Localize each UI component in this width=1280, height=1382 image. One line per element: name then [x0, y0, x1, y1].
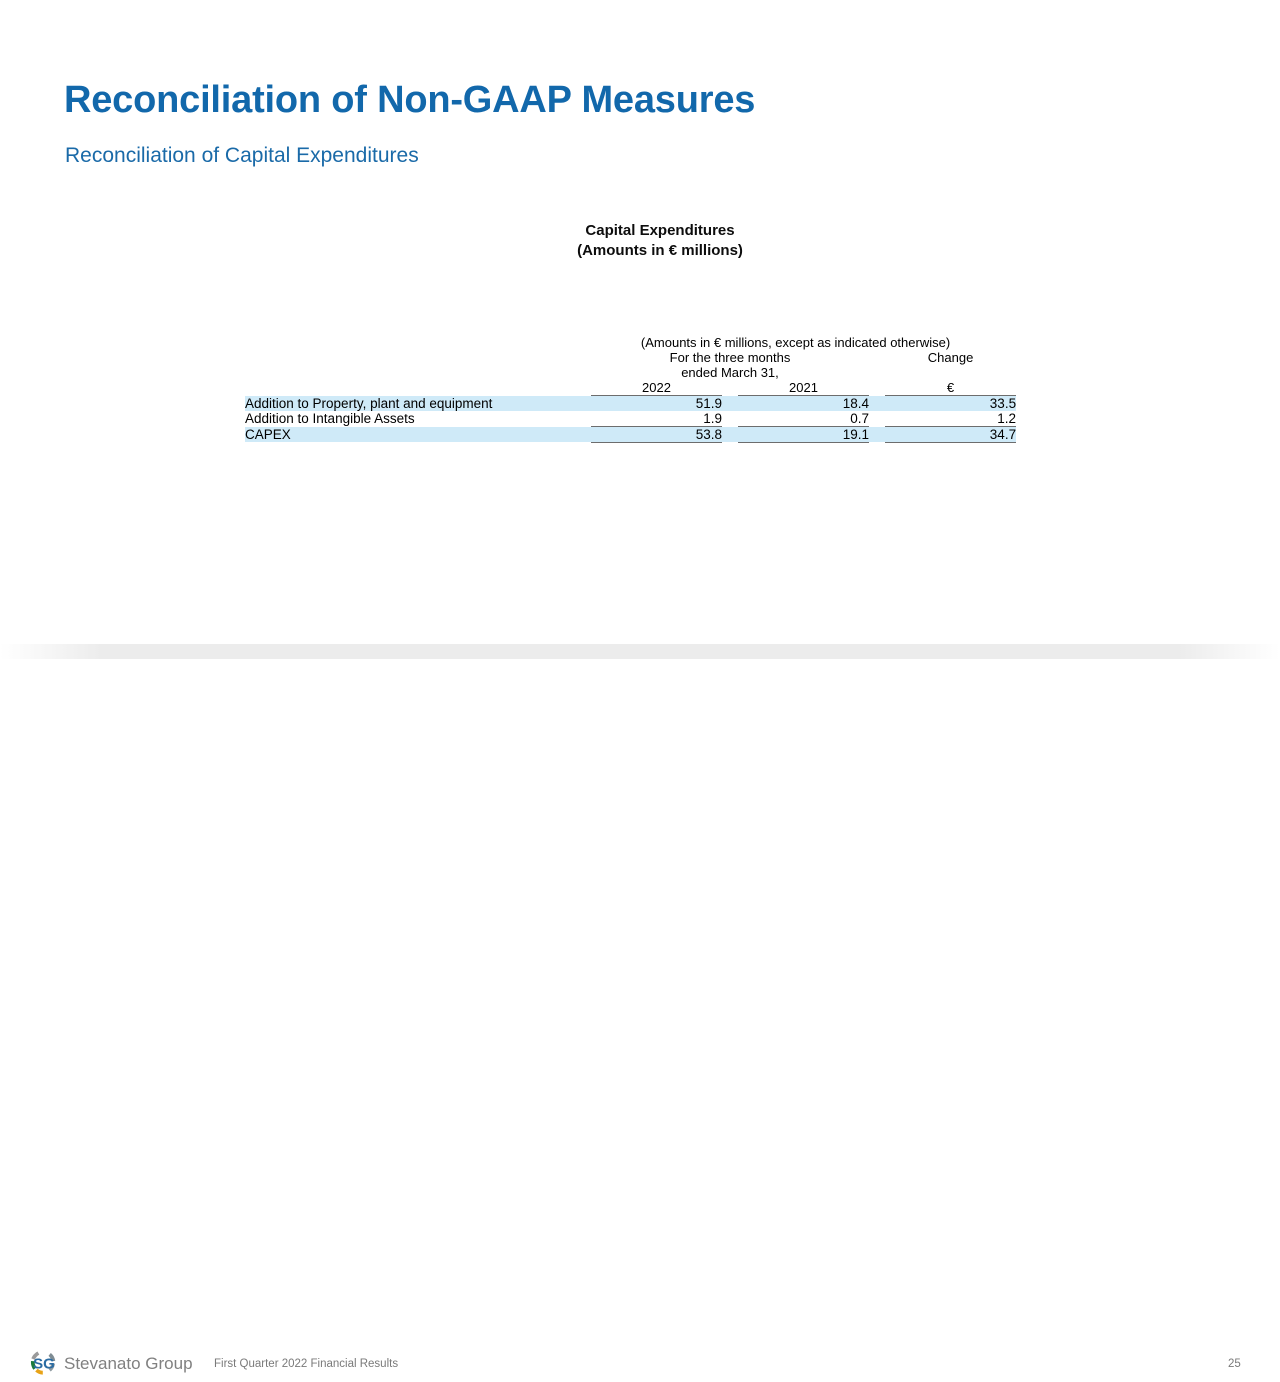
spacer-cell [245, 335, 575, 350]
spacer-cell [869, 411, 885, 426]
row-label-addition-ppe: Addition to Property, plant and equipmen… [245, 396, 575, 411]
spacer-cell [245, 350, 575, 365]
spacer-cell [575, 380, 591, 395]
table-units-note: (Amounts in € millions, except as indica… [575, 335, 1016, 350]
spacer-cell [575, 442, 591, 443]
column-group-header-period-line-1: For the three months [591, 350, 869, 365]
spacer-cell [722, 396, 738, 411]
company-wordmark: Stevanato Group [64, 1354, 193, 1374]
spacer-cell [869, 350, 885, 365]
capex-reconciliation-table: (Amounts in € millions, except as indica… [245, 335, 1016, 443]
table-body: Addition to Property, plant and equipmen… [245, 396, 1016, 443]
column-header-label [245, 380, 575, 395]
column-header-change-euro: € [885, 380, 1016, 395]
row-label-addition-intangible: Addition to Intangible Assets [245, 411, 575, 426]
spacer-cell [575, 396, 591, 411]
table-bottom-rule-row [245, 442, 1016, 443]
stevanato-group-logo-icon: SG [26, 1346, 62, 1382]
cell-2021-capex: 19.1 [738, 427, 869, 442]
spacer-cell [575, 427, 591, 442]
cell-change-addition-ppe: 33.5 [885, 396, 1016, 411]
spacer-cell [575, 350, 591, 365]
table-row: Addition to Intangible Assets 1.9 0.7 1.… [245, 411, 1016, 426]
svg-text:SG: SG [33, 1356, 55, 1373]
column-group-header-period-line-2: ended March 31, [591, 365, 869, 380]
bottom-rule-change [885, 442, 1016, 443]
spacer-cell [722, 442, 738, 443]
cell-2021-addition-intangible: 0.7 [738, 411, 869, 426]
spacer-cell [869, 396, 885, 411]
table-period-header-row-2: ended March 31, [245, 365, 1016, 380]
bottom-rule-2021 [738, 442, 869, 443]
footer-divider-band [0, 644, 1280, 659]
table-column-header-row: 2022 2021 € [245, 380, 1016, 395]
cell-2022-addition-intangible: 1.9 [591, 411, 722, 426]
cell-2021-addition-ppe: 18.4 [738, 396, 869, 411]
footer-deck-name: First Quarter 2022 Financial Results [214, 1358, 398, 1370]
spacer-cell [722, 380, 738, 395]
table-caption-line-1: Capital Expenditures [395, 221, 925, 241]
page-number: 25 [1228, 1358, 1241, 1370]
spacer-cell [575, 365, 591, 380]
cell-change-addition-intangible: 1.2 [885, 411, 1016, 426]
table-units-note-row: (Amounts in € millions, except as indica… [245, 335, 1016, 350]
column-header-2021: 2021 [738, 380, 869, 395]
page-subtitle: Reconciliation of Capital Expenditures [65, 144, 419, 168]
column-group-header-change: Change [885, 350, 1016, 365]
cell-2022-addition-ppe: 51.9 [591, 396, 722, 411]
spacer-cell [722, 411, 738, 426]
column-header-2022: 2022 [591, 380, 722, 395]
spacer-cell [245, 365, 575, 380]
spacer-cell [245, 442, 575, 443]
table-header: (Amounts in € millions, except as indica… [245, 335, 1016, 396]
table-period-header-row: For the three months Change [245, 350, 1016, 365]
spacer-cell [575, 411, 591, 426]
page-title: Reconciliation of Non-GAAP Measures [64, 79, 755, 122]
cell-change-capex: 34.7 [885, 427, 1016, 442]
table-row-total: CAPEX 53.8 19.1 34.7 [245, 427, 1016, 442]
spacer-cell [869, 427, 885, 442]
table-caption-line-2: (Amounts in € millions) [395, 241, 925, 261]
cell-2022-capex: 53.8 [591, 427, 722, 442]
row-label-capex: CAPEX [245, 427, 575, 442]
spacer-cell [869, 442, 885, 443]
spacer-cell [869, 365, 885, 380]
slide-footer: SG Stevanato Group First Quarter 2022 Fi… [0, 672, 1280, 720]
table-caption: Capital Expenditures (Amounts in € milli… [395, 221, 925, 261]
spacer-cell [722, 427, 738, 442]
spacer-cell [885, 365, 1016, 380]
spacer-cell [869, 380, 885, 395]
table-row: Addition to Property, plant and equipmen… [245, 396, 1016, 411]
bottom-rule-2022 [591, 442, 722, 443]
